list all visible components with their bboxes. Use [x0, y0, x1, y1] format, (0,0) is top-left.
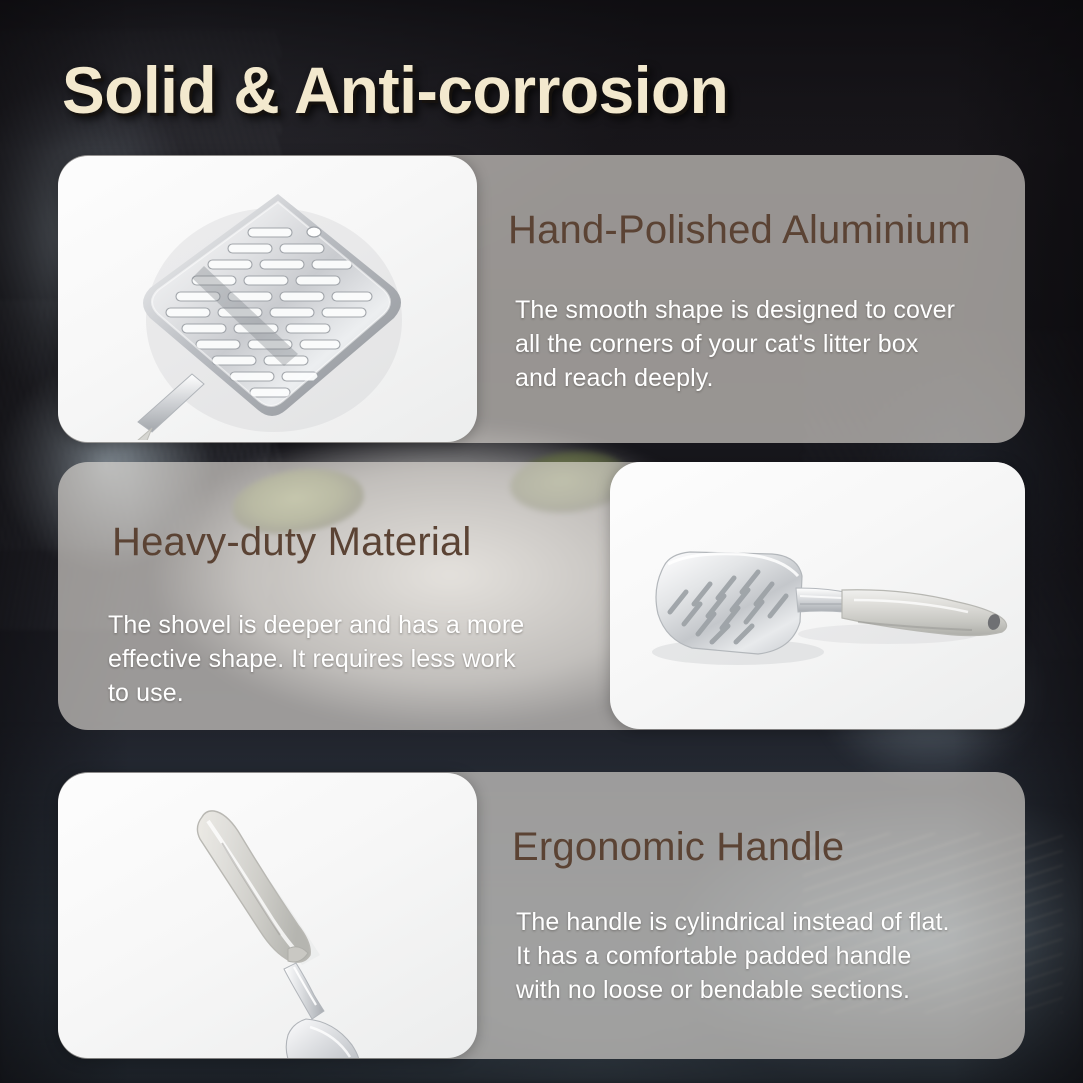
feature-2-body: The shovel is deeper and has a more effe…	[108, 608, 524, 710]
feature-2-image-card	[610, 462, 1025, 729]
feature-3-body: The handle is cylindrical instead of fla…	[516, 905, 950, 1007]
full-scoop-illustration	[628, 530, 1018, 675]
feature-1-heading: Hand-Polished Aluminium	[508, 208, 971, 253]
feature-3-image-card	[58, 773, 477, 1058]
feature-3-heading: Ergonomic Handle	[512, 825, 844, 870]
page-title: Solid & Anti-corrosion	[62, 52, 728, 128]
scoop-head-illustration	[108, 170, 438, 440]
feature-2-heading: Heavy-duty Material	[112, 520, 471, 565]
feature-1-body: The smooth shape is designed to cover al…	[515, 293, 955, 395]
handle-closeup-illustration	[138, 783, 428, 1058]
feature-1-image-card	[58, 156, 477, 442]
infographic-canvas: Solid & Anti-corrosion	[0, 0, 1083, 1083]
